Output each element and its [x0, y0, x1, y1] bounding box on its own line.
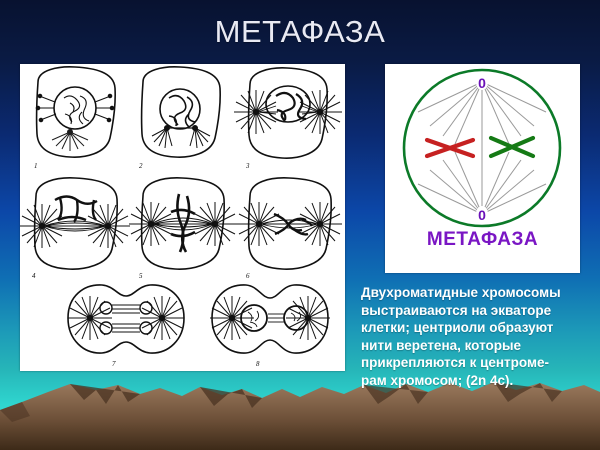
mitosis-cell-8: 8 [210, 285, 330, 368]
mitosis-cell-1: 1 [34, 67, 115, 170]
description-text: Двухроматидные хромосомы выстраиваются н… [361, 284, 594, 389]
mitosis-cell-7: 7 [68, 285, 184, 368]
mitosis-cell-6: 6 [237, 178, 342, 280]
cell-label-8: 8 [256, 360, 260, 368]
description-line-6: рам хромосом; (2n 4c). [361, 372, 594, 390]
mitosis-cell-4: 4 [20, 178, 130, 280]
mitosis-cell-3: 3 [234, 68, 342, 170]
metaphase-diagram-panel: 0 0 МЕТАФАЗА [385, 64, 580, 273]
centriole-top-label: 0 [478, 75, 486, 91]
centriole-bottom-label: 0 [478, 207, 486, 223]
mitosis-stages-illustration: 1 [20, 64, 345, 371]
cell-label-3: 3 [245, 162, 250, 170]
mitosis-stages-panel: 1 [20, 64, 345, 371]
mitosis-cell-2: 2 [139, 67, 220, 170]
cell-label-1: 1 [34, 162, 38, 170]
slide-metaphase: МЕТАФАЗА [0, 0, 600, 450]
metaphase-cell-diagram: 0 0 [385, 64, 580, 232]
chromosome-green [491, 138, 533, 156]
chromosome-red [427, 140, 473, 156]
cell-label-4: 4 [32, 272, 36, 280]
description-line-3: клетки; центриоли образуют [361, 319, 594, 337]
cell-label-5: 5 [139, 272, 143, 280]
description-line-5: прикрепляются к центроме- [361, 354, 594, 372]
mitosis-cell-5: 5 [129, 178, 237, 280]
description-line-1: Двухроматидные хромосомы [361, 284, 594, 302]
slide-title: МЕТАФАЗА [0, 12, 600, 52]
description-line-2: выстраиваются на экваторе [361, 302, 594, 320]
cell-label-2: 2 [139, 162, 143, 170]
spindle-fibers [418, 82, 546, 214]
description-line-4: нити веретена, которые [361, 337, 594, 355]
cell-label-6: 6 [246, 272, 250, 280]
cell-label-7: 7 [112, 360, 116, 368]
